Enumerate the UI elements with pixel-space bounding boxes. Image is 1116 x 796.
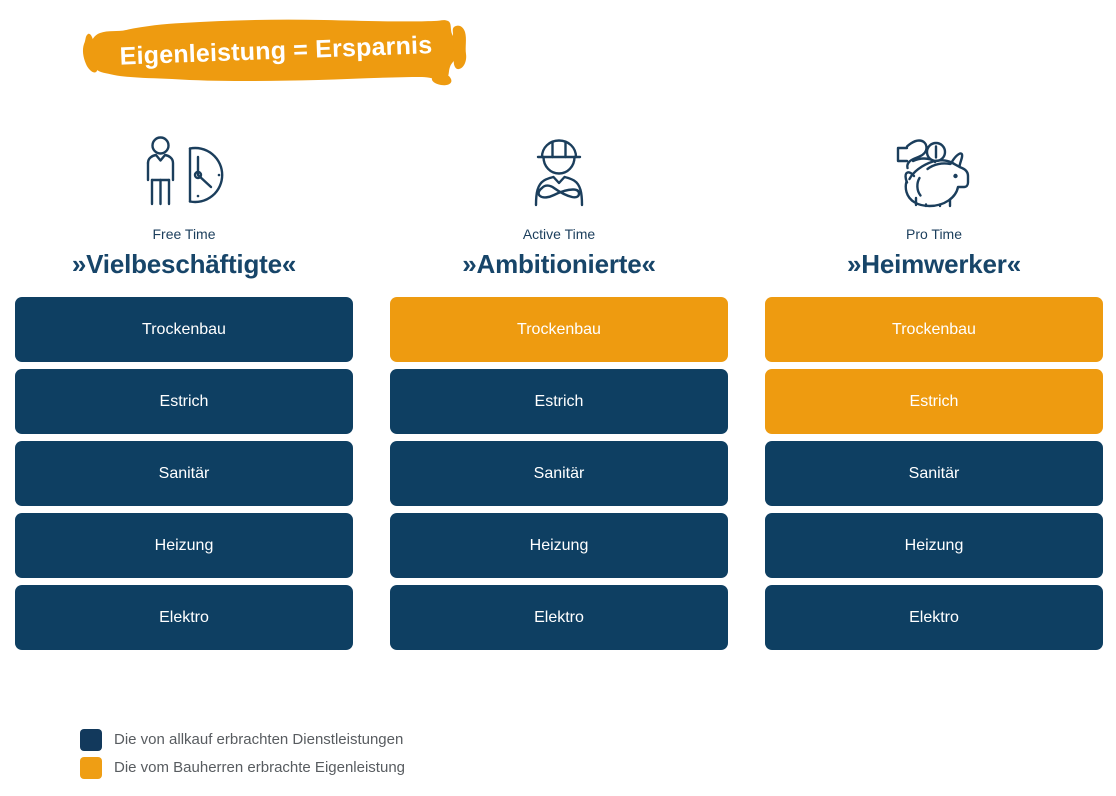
legend-label: Die von allkauf erbrachten Dienstleistun… — [114, 731, 403, 749]
legend-label: Die vom Bauherren erbrachte Eigenleistun… — [114, 759, 405, 777]
service-bar[interactable]: Heizung — [15, 513, 353, 578]
legend-swatch-orange — [80, 757, 102, 779]
banner: Eigenleistung = Ersparnis — [78, 14, 468, 88]
service-bar[interactable]: Heizung — [390, 513, 728, 578]
service-bar[interactable]: Sanitär — [390, 441, 728, 506]
persona-column-heimwerker: Pro Time »Heimwerker« Trockenbau Estrich… — [765, 126, 1103, 650]
service-bar-list: Trockenbau Estrich Sanitär Heizung Elekt… — [15, 297, 353, 650]
persona-eyebrow: Active Time — [390, 226, 728, 243]
service-bar[interactable]: Trockenbau — [15, 297, 353, 362]
service-bar[interactable]: Heizung — [765, 513, 1103, 578]
persona-columns: Free Time »Vielbeschäftigte« Trockenbau … — [15, 126, 1103, 650]
persona-column-vielbeschaeftigte: Free Time »Vielbeschäftigte« Trockenbau … — [15, 126, 353, 650]
service-bar[interactable]: Estrich — [15, 369, 353, 434]
legend-swatch-navy — [80, 729, 102, 751]
brush-stroke-shape — [78, 14, 468, 88]
service-bar[interactable]: Trockenbau — [390, 297, 728, 362]
service-bar-list: Trockenbau Estrich Sanitär Heizung Elekt… — [765, 297, 1103, 650]
service-bar[interactable]: Estrich — [390, 369, 728, 434]
persona-eyebrow: Free Time — [15, 226, 353, 243]
persona-title: »Ambitionierte« — [390, 248, 728, 281]
service-bar[interactable]: Elektro — [765, 585, 1103, 650]
construction-worker-icon — [390, 126, 728, 216]
service-bar[interactable]: Sanitär — [765, 441, 1103, 506]
persona-column-ambitionierte: Active Time »Ambitionierte« Trockenbau E… — [390, 126, 728, 650]
legend-item-services: Die von allkauf erbrachten Dienstleistun… — [80, 729, 405, 751]
service-bar-list: Trockenbau Estrich Sanitär Heizung Elekt… — [390, 297, 728, 650]
persona-title: »Heimwerker« — [765, 248, 1103, 281]
persona-eyebrow: Pro Time — [765, 226, 1103, 243]
persona-title: »Vielbeschäftigte« — [15, 248, 353, 281]
service-bar[interactable]: Estrich — [765, 369, 1103, 434]
service-bar[interactable]: Trockenbau — [765, 297, 1103, 362]
person-clock-icon — [15, 126, 353, 216]
legend: Die von allkauf erbrachten Dienstleistun… — [80, 729, 405, 779]
service-bar[interactable]: Sanitär — [15, 441, 353, 506]
legend-item-eigenleistung: Die vom Bauherren erbrachte Eigenleistun… — [80, 757, 405, 779]
service-bar[interactable]: Elektro — [15, 585, 353, 650]
service-bar[interactable]: Elektro — [390, 585, 728, 650]
piggy-bank-icon — [765, 126, 1103, 216]
